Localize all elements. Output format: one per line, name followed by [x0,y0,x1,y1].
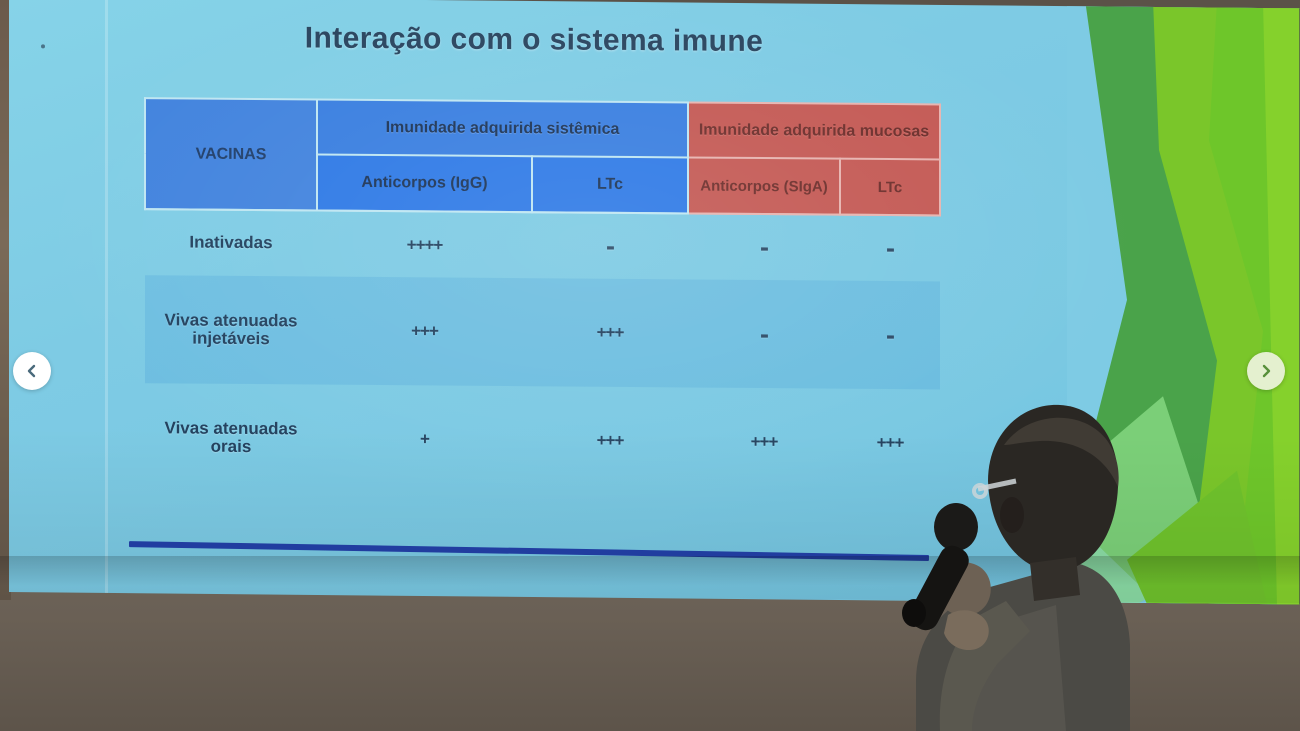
photo-of-presentation-screen: Interação com o sistema imune VACINAS Im… [0,0,1300,731]
screen-seam [105,0,108,594]
cell-orais-igg: + [317,385,532,495]
row-label-vivas-injetaveis: Vivas atenuadas injetáveis [145,275,317,384]
presenter-silhouette [880,395,1140,731]
chevron-right-icon [1258,363,1274,379]
row-label-vivas-orais: Vivas atenuadas orais [145,383,317,492]
carousel-prev-button[interactable] [13,352,51,390]
cell-inativadas-ltc-systemic: - [532,212,688,279]
cell-inativadas-siga: - [688,213,840,280]
group-header-mucosal: Imunidade adquirida mucosas [688,102,940,159]
slide-title: Interação com o sistema imune [9,19,1059,61]
cell-inativadas-igg: ++++ [317,211,532,279]
cell-injetaveis-siga: - [688,279,840,388]
cell-orais-ltc-systemic: +++ [532,386,688,495]
cell-injetaveis-ltc-systemic: +++ [532,278,688,387]
sub-header-ltc-mucosal: LTc [840,159,940,216]
cell-inativadas-ltc-mucosal: - [840,215,940,282]
cell-orais-siga: +++ [688,387,840,496]
group-header-systemic: Imunidade adquirida sistêmica [317,100,688,158]
chevron-left-icon [24,363,40,379]
table-row: Vivas atenuadas injetáveis +++ +++ - - [145,275,940,389]
cell-injetaveis-igg: +++ [317,277,532,387]
table-row: Inativadas ++++ - - - [145,209,940,281]
carousel-next-button[interactable] [1247,352,1285,390]
sub-header-ltc-systemic: LTc [532,156,688,213]
sub-header-igg: Anticorpos (IgG) [317,155,532,213]
cell-injetaveis-ltc-mucosal: - [840,281,940,390]
table-row: Vivas atenuadas orais + +++ +++ +++ [145,383,940,497]
immunity-table: VACINAS Imunidade adquirida sistêmica Im… [144,97,941,497]
row-label-inativadas: Inativadas [145,209,317,276]
sub-header-siga: Anticorpos (SIgA) [688,157,840,214]
table-corner-vacinas: VACINAS [145,98,317,210]
